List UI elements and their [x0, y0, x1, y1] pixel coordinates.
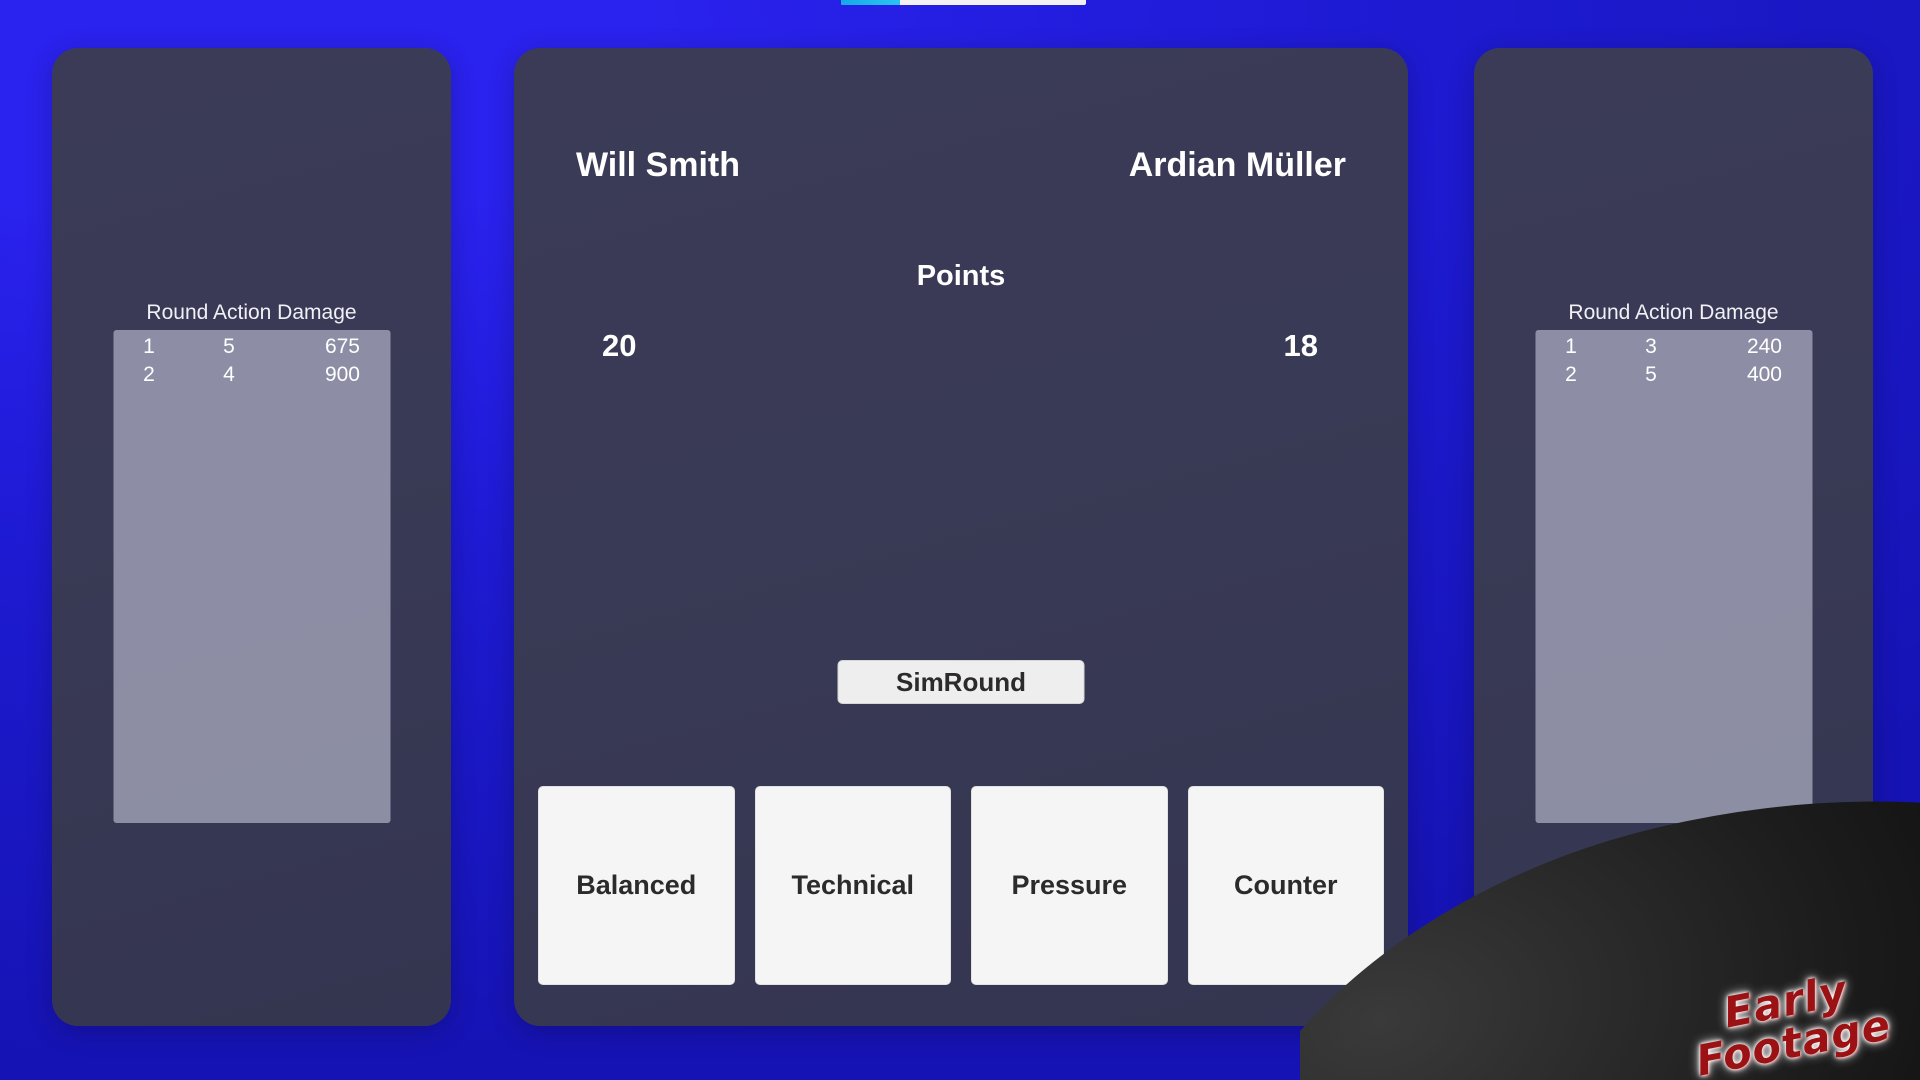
- app-root: Round Action Damage 1 5 675 2 4 900 Will…: [0, 0, 1920, 1080]
- match-panel: Will Smith Ardian Müller Points 20 18 Si…: [514, 48, 1408, 1026]
- points-value-left: 20: [602, 328, 636, 364]
- left-fighter-panel: Round Action Damage 1 5 675 2 4 900: [52, 48, 451, 1026]
- cell-damage: 675: [273, 333, 384, 361]
- left-stats-table: 1 5 675 2 4 900: [113, 330, 390, 823]
- cell-round: 1: [113, 333, 185, 361]
- right-stats-header: Round Action Damage: [1535, 300, 1812, 325]
- right-stats-table: 1 3 240 2 5 400: [1535, 330, 1812, 823]
- left-stats-header: Round Action Damage: [113, 300, 390, 325]
- strategy-button-counter[interactable]: Counter: [1188, 786, 1385, 985]
- right-fighter-panel: Round Action Damage 1 3 240 2 5 400: [1474, 48, 1873, 1026]
- points-label: Points: [514, 260, 1408, 293]
- cell-round: 2: [113, 361, 185, 389]
- strategy-button-technical[interactable]: Technical: [755, 786, 952, 985]
- cell-action: 4: [185, 361, 273, 389]
- cell-action: 3: [1607, 333, 1695, 361]
- cell-damage: 240: [1695, 333, 1806, 361]
- table-row: 1 5 675: [113, 333, 390, 361]
- points-value-right: 18: [1284, 328, 1318, 364]
- cell-action: 5: [185, 333, 273, 361]
- sim-round-button[interactable]: SimRound: [838, 660, 1085, 704]
- strategy-button-balanced[interactable]: Balanced: [538, 786, 735, 985]
- loading-progress-fill: [841, 0, 900, 5]
- fighter-name-left: Will Smith: [576, 146, 740, 185]
- strategy-button-pressure[interactable]: Pressure: [971, 786, 1168, 985]
- cell-damage: 400: [1695, 361, 1806, 389]
- fighter-name-right: Ardian Müller: [1129, 146, 1346, 185]
- right-stats-block: Round Action Damage 1 3 240 2 5 400: [1535, 300, 1812, 823]
- cell-round: 2: [1535, 361, 1607, 389]
- strategy-button-group: Balanced Technical Pressure Counter: [538, 786, 1384, 985]
- cell-round: 1: [1535, 333, 1607, 361]
- table-row: 2 4 900: [113, 361, 390, 389]
- loading-progress-bar: [841, 0, 1086, 5]
- left-stats-block: Round Action Damage 1 5 675 2 4 900: [113, 300, 390, 823]
- cell-action: 5: [1607, 361, 1695, 389]
- table-row: 2 5 400: [1535, 361, 1812, 389]
- table-row: 1 3 240: [1535, 333, 1812, 361]
- cell-damage: 900: [273, 361, 384, 389]
